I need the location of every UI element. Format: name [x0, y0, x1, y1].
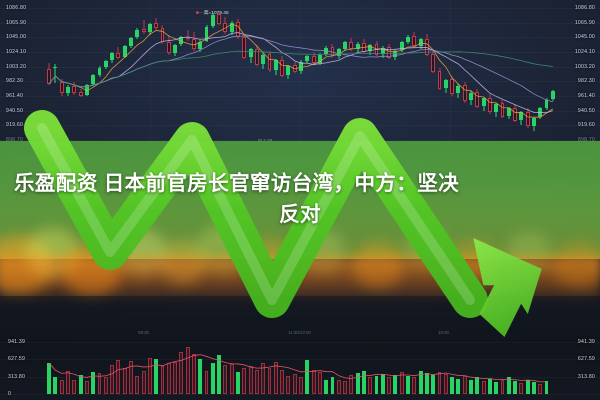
- volume-axis-label-right: 627.59: [578, 356, 595, 362]
- headline-line-1: 乐盈配资 日本前官房长官窜访台湾，中方：坚决: [14, 168, 586, 199]
- time-axis-label: 09:30: [138, 330, 149, 335]
- stock-chart-banner-image: 1086.801065.901045.001024.101003.20982.3…: [0, 0, 600, 400]
- page-title: 乐盈配资 日本前官房长官窜访台湾，中方：坚决 反对: [14, 168, 586, 230]
- volume-axis-label-left: 0: [8, 391, 11, 397]
- volume-axis-label-left: 627.59: [8, 356, 25, 362]
- headline-line-2: 反对: [14, 199, 586, 230]
- volume-axis-label-right: 941.39: [578, 339, 595, 345]
- volume-axis-label-left: 313.80: [8, 374, 25, 380]
- volume-ma-line: [0, 332, 600, 400]
- volume-chart-pane: [0, 332, 600, 400]
- time-axis-label: 11:30/13:00: [288, 330, 311, 335]
- time-axis-label: 15:00: [438, 330, 449, 335]
- volume-axis-label-right: 313.80: [578, 374, 595, 380]
- volume-axis-label-left: 941.39: [8, 339, 25, 345]
